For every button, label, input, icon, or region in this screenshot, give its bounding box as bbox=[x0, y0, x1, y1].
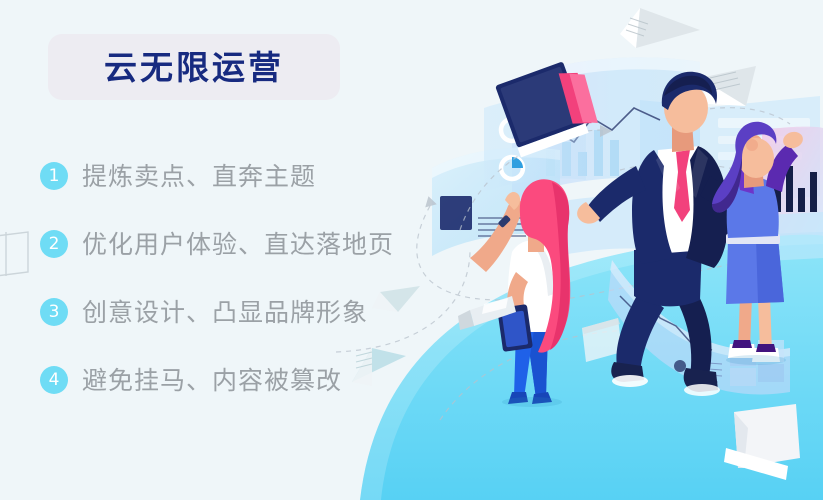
feature-item-2: 2 优化用户体验、直达落地页 bbox=[40, 210, 460, 278]
feature-label-3: 创意设计、凸显品牌形象 bbox=[82, 300, 368, 325]
feature-number-badge-4: 4 bbox=[40, 366, 68, 394]
feature-label-4: 避免挂马、内容被篡改 bbox=[82, 368, 342, 393]
feature-label-2: 优化用户体验、直达落地页 bbox=[82, 232, 394, 257]
feature-number-badge-3: 3 bbox=[40, 298, 68, 326]
feature-list: 1 提炼卖点、直奔主题 2 优化用户体验、直达落地页 3 创意设计、凸显品牌形象… bbox=[40, 142, 460, 414]
feature-item-3: 3 创意设计、凸显品牌形象 bbox=[40, 278, 460, 346]
feature-label-1: 提炼卖点、直奔主题 bbox=[82, 164, 316, 189]
feature-item-4: 4 避免挂马、内容被篡改 bbox=[40, 346, 460, 414]
title-badge: 云无限运营 bbox=[48, 34, 340, 100]
feature-number-badge-1: 1 bbox=[40, 162, 68, 190]
feature-number-badge-2: 2 bbox=[40, 230, 68, 258]
promo-banner: 云无限运营 1 提炼卖点、直奔主题 2 优化用户体验、直达落地页 3 创意设计、… bbox=[0, 0, 823, 500]
feature-item-1: 1 提炼卖点、直奔主题 bbox=[40, 142, 460, 210]
page-title: 云无限运营 bbox=[104, 51, 284, 84]
